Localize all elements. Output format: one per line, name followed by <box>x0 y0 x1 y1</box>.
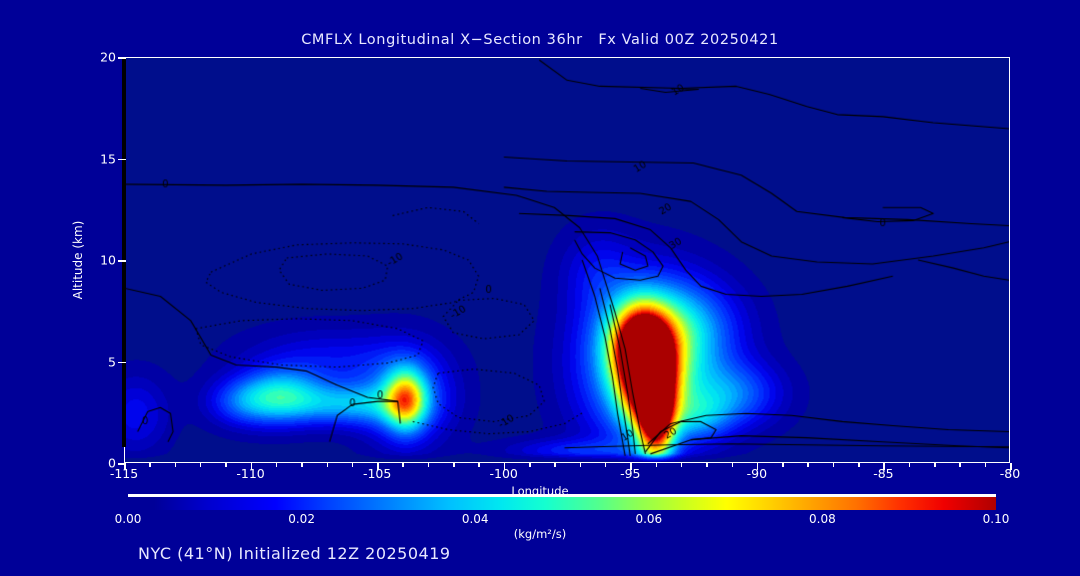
x-tick-minor <box>554 463 556 467</box>
plot-inner <box>125 58 1009 462</box>
x-tick-mark <box>124 463 126 470</box>
x-tick-minor <box>732 463 734 467</box>
y-tick-label: 5 <box>108 354 116 369</box>
x-tick-minor <box>175 463 177 467</box>
colorbar-tick-label: 0.04 <box>462 512 489 526</box>
y-tick-label: 10 <box>100 253 116 268</box>
chart-title: CMFLX Longitudinal X−Section 36hr Fx Val… <box>0 32 1080 48</box>
y-tick-label: 15 <box>100 151 116 166</box>
colorbar-units: (kg/m²/s) <box>0 527 1080 541</box>
x-tick-minor <box>276 463 278 467</box>
y-tick-mark <box>118 260 126 262</box>
y-axis-title: Altitude (km) <box>71 221 85 300</box>
colorbar-tick-label: 0.00 <box>115 512 142 526</box>
x-tick-minor <box>580 463 582 467</box>
x-tick-minor <box>909 463 911 467</box>
x-tick-minor <box>807 463 809 467</box>
x-tick-mark <box>1010 463 1012 470</box>
y-axis-ticklabels: 05101520 <box>60 57 116 463</box>
x-tick-minor <box>833 463 835 467</box>
x-tick-mark <box>504 463 506 470</box>
x-tick-minor <box>478 463 480 467</box>
y-tick-mark <box>118 362 126 364</box>
x-axis-ticklabels: -115-110-105-100-95-90-85-80 <box>0 466 1080 484</box>
x-tick-minor <box>656 463 658 467</box>
colorbar-tick-label: 0.02 <box>288 512 315 526</box>
x-tick-minor <box>681 463 683 467</box>
x-tick-minor <box>402 463 404 467</box>
x-tick-minor <box>934 463 936 467</box>
x-tick-minor <box>858 463 860 467</box>
x-tick-minor <box>428 463 430 467</box>
colorbar <box>128 496 996 510</box>
x-tick-minor <box>985 463 987 467</box>
x-tick-mark <box>883 463 885 470</box>
colorbar-tick-label: 0.08 <box>809 512 836 526</box>
x-tick-minor <box>782 463 784 467</box>
figure-root: CMFLX Longitudinal X−Section 36hr Fx Val… <box>0 0 1080 576</box>
x-tick-mark <box>630 463 632 470</box>
x-tick-mark <box>251 463 253 470</box>
y-axis-spine <box>122 57 126 447</box>
x-tick-minor <box>706 463 708 467</box>
colorbar-tick-label: 0.10 <box>983 512 1010 526</box>
x-tick-minor <box>200 463 202 467</box>
y-tick-mark <box>118 159 126 161</box>
x-tick-mark <box>377 463 379 470</box>
x-tick-minor <box>529 463 531 467</box>
x-tick-minor <box>453 463 455 467</box>
x-tick-minor <box>352 463 354 467</box>
x-tick-minor <box>301 463 303 467</box>
footer-caption: NYC (41°N) Initialized 12Z 20250419 <box>138 544 451 563</box>
x-tick-minor <box>327 463 329 467</box>
plot-area <box>124 57 1010 463</box>
x-tick-mark <box>757 463 759 470</box>
x-tick-minor <box>225 463 227 467</box>
contour-overlay <box>125 58 1009 462</box>
y-tick-mark <box>118 57 126 59</box>
colorbar-tick-label: 0.06 <box>635 512 662 526</box>
x-tick-minor <box>605 463 607 467</box>
x-tick-minor <box>149 463 151 467</box>
colorbar-ticklabels: 0.000.020.040.060.080.10 <box>0 512 1080 528</box>
x-tick-minor <box>959 463 961 467</box>
y-tick-label: 20 <box>100 50 116 65</box>
